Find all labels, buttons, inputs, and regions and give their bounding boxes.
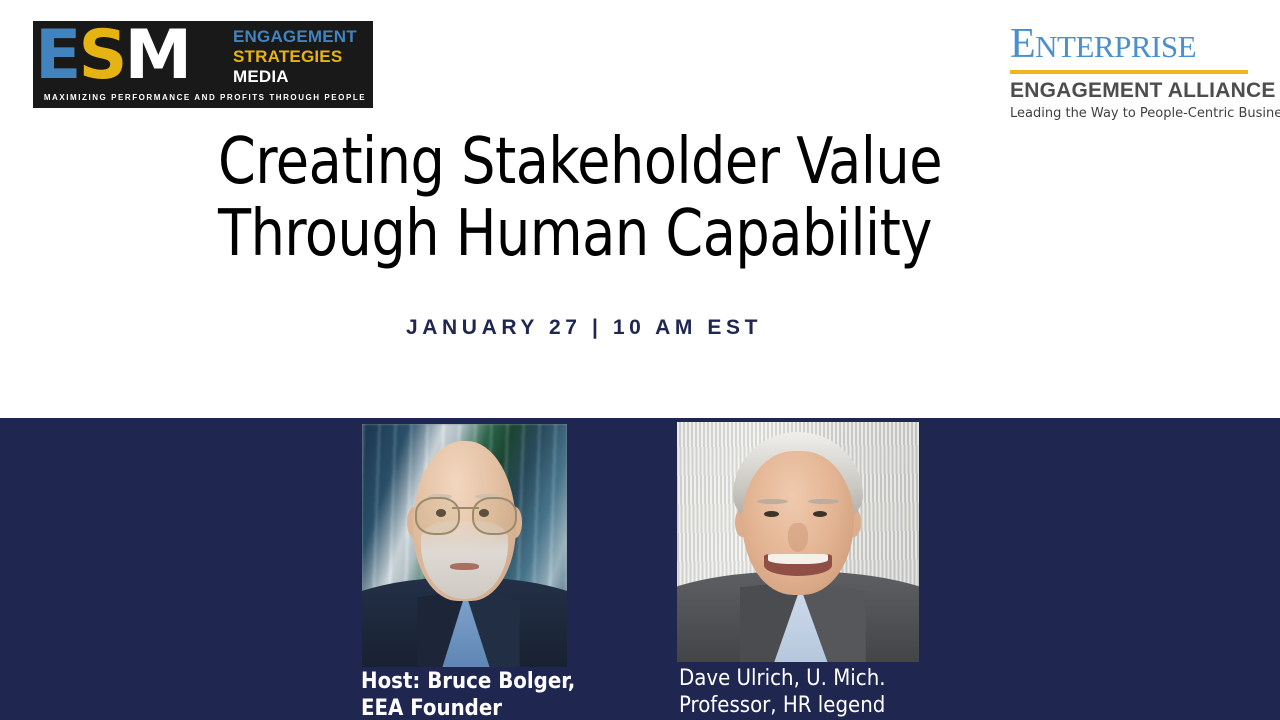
eea-word-engagement-alliance: ENGAGEMENT ALLIANCE	[1010, 79, 1248, 102]
ulrich-nose	[788, 523, 807, 552]
esm-word-strategies: STRATEGIES	[233, 47, 373, 67]
ulrich-teeth	[768, 554, 828, 564]
esm-wordmark: ENGAGEMENT STRATEGIES MEDIA	[233, 27, 373, 87]
esm-letter-m: M	[124, 22, 189, 90]
esm-word-media: MEDIA	[233, 67, 373, 87]
esm-monogram: E S M	[33, 21, 230, 91]
bolger-glasses-bridge	[452, 507, 479, 509]
bolger-lens-right	[472, 497, 517, 535]
speaker-caption-bolger: Host: Bruce Bolger, EEA Founder	[361, 668, 575, 720]
ulrich-brow-left	[757, 499, 788, 504]
eea-logo: ENTERPRISE ENGAGEMENT ALLIANCE Leading t…	[1010, 22, 1248, 112]
ulrich-brow-right	[808, 499, 839, 504]
esm-logo: E S M ENGAGEMENT STRATEGIES MEDIA MAXIMI…	[33, 21, 373, 108]
speaker-photo-bolger	[362, 424, 567, 667]
esm-letter-s: S	[78, 22, 124, 90]
ulrich-smile	[764, 554, 832, 576]
eea-word-enterprise: ENTERPRISE	[1010, 22, 1248, 69]
eea-gold-rule	[1010, 70, 1248, 74]
esm-letter-e: E	[35, 22, 78, 90]
webinar-title-slide: E S M ENGAGEMENT STRATEGIES MEDIA MAXIMI…	[0, 0, 1280, 720]
eea-enterprise-initial: E	[1010, 21, 1035, 67]
lower-navy-band	[0, 418, 1280, 720]
ulrich-eye-left	[764, 511, 779, 517]
bolger-lens-left	[415, 497, 460, 535]
esm-word-engagement: ENGAGEMENT	[233, 27, 373, 47]
eea-tagline: Leading the Way to People-Centric Busine…	[1010, 106, 1248, 122]
ulrich-eye-right	[813, 511, 828, 517]
speaker-photo-ulrich	[677, 422, 919, 662]
speaker-caption-ulrich: Dave Ulrich, U. Mich. Professor, HR lege…	[679, 665, 886, 719]
eea-enterprise-rest: NTERPRISE	[1035, 29, 1196, 64]
page-title: Creating Stakeholder Value Through Human…	[218, 126, 1017, 270]
event-dateline: JANUARY 27 | 10 AM EST	[406, 314, 762, 342]
bolger-mouth	[450, 563, 479, 570]
bolger-glasses	[413, 497, 516, 531]
esm-tagline: MAXIMIZING PERFORMANCE AND PROFITS THROU…	[37, 93, 373, 103]
